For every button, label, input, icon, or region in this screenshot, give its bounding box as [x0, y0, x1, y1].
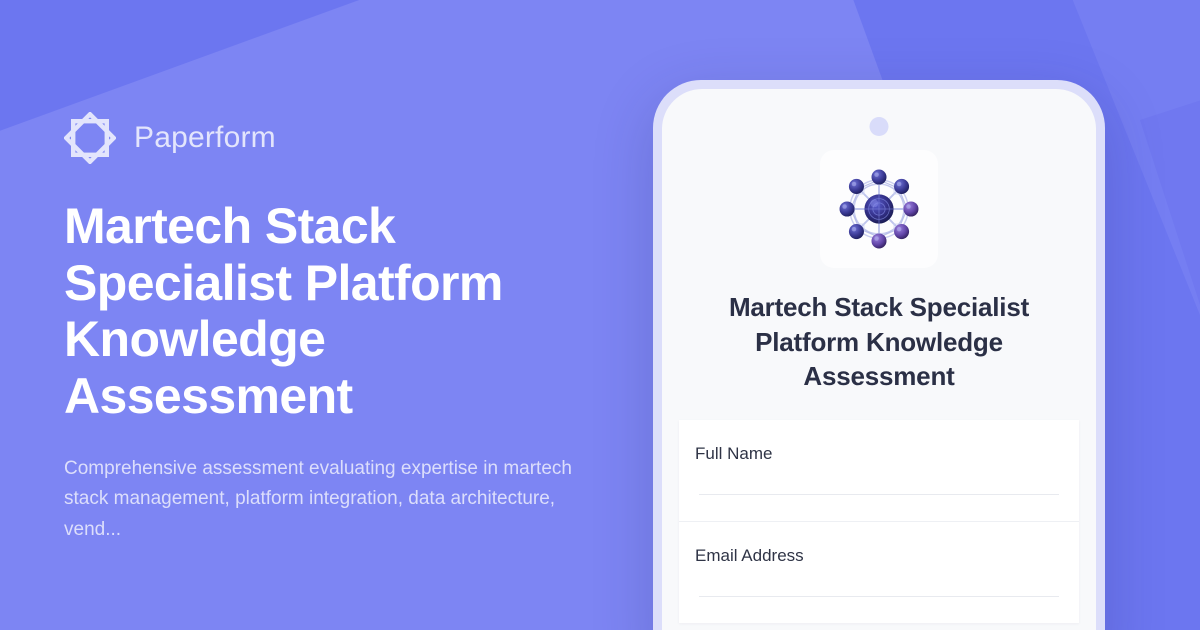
hero-content: Paperform Martech Stack Specialist Platf… [64, 112, 604, 545]
form-fields-card: Full Name Email Address [679, 420, 1079, 623]
social-preview-card: Paperform Martech Stack Specialist Platf… [0, 0, 1200, 630]
page-title: Martech Stack Specialist Platform Knowle… [64, 198, 544, 424]
phone-mockup: Martech Stack Specialist Platform Knowle… [653, 80, 1105, 630]
form-preview: Martech Stack Specialist Platform Knowle… [662, 89, 1096, 623]
form-title: Martech Stack Specialist Platform Knowle… [678, 290, 1080, 394]
camera-dot-icon [870, 117, 889, 136]
phone-screen: Martech Stack Specialist Platform Knowle… [662, 89, 1096, 630]
field-label-full-name: Full Name [695, 444, 1063, 464]
field-email-address[interactable]: Email Address [679, 522, 1079, 623]
brand-lockup: Paperform [64, 112, 604, 164]
brand-name: Paperform [134, 121, 276, 155]
field-label-email-address: Email Address [695, 546, 1063, 566]
paperform-logo-icon [64, 112, 116, 164]
field-input-email-address[interactable] [699, 596, 1059, 597]
page-description: Comprehensive assessment evaluating expe… [64, 454, 579, 545]
field-input-full-name[interactable] [699, 494, 1059, 495]
field-full-name[interactable]: Full Name [679, 420, 1079, 522]
network-hub-icon [820, 150, 938, 268]
